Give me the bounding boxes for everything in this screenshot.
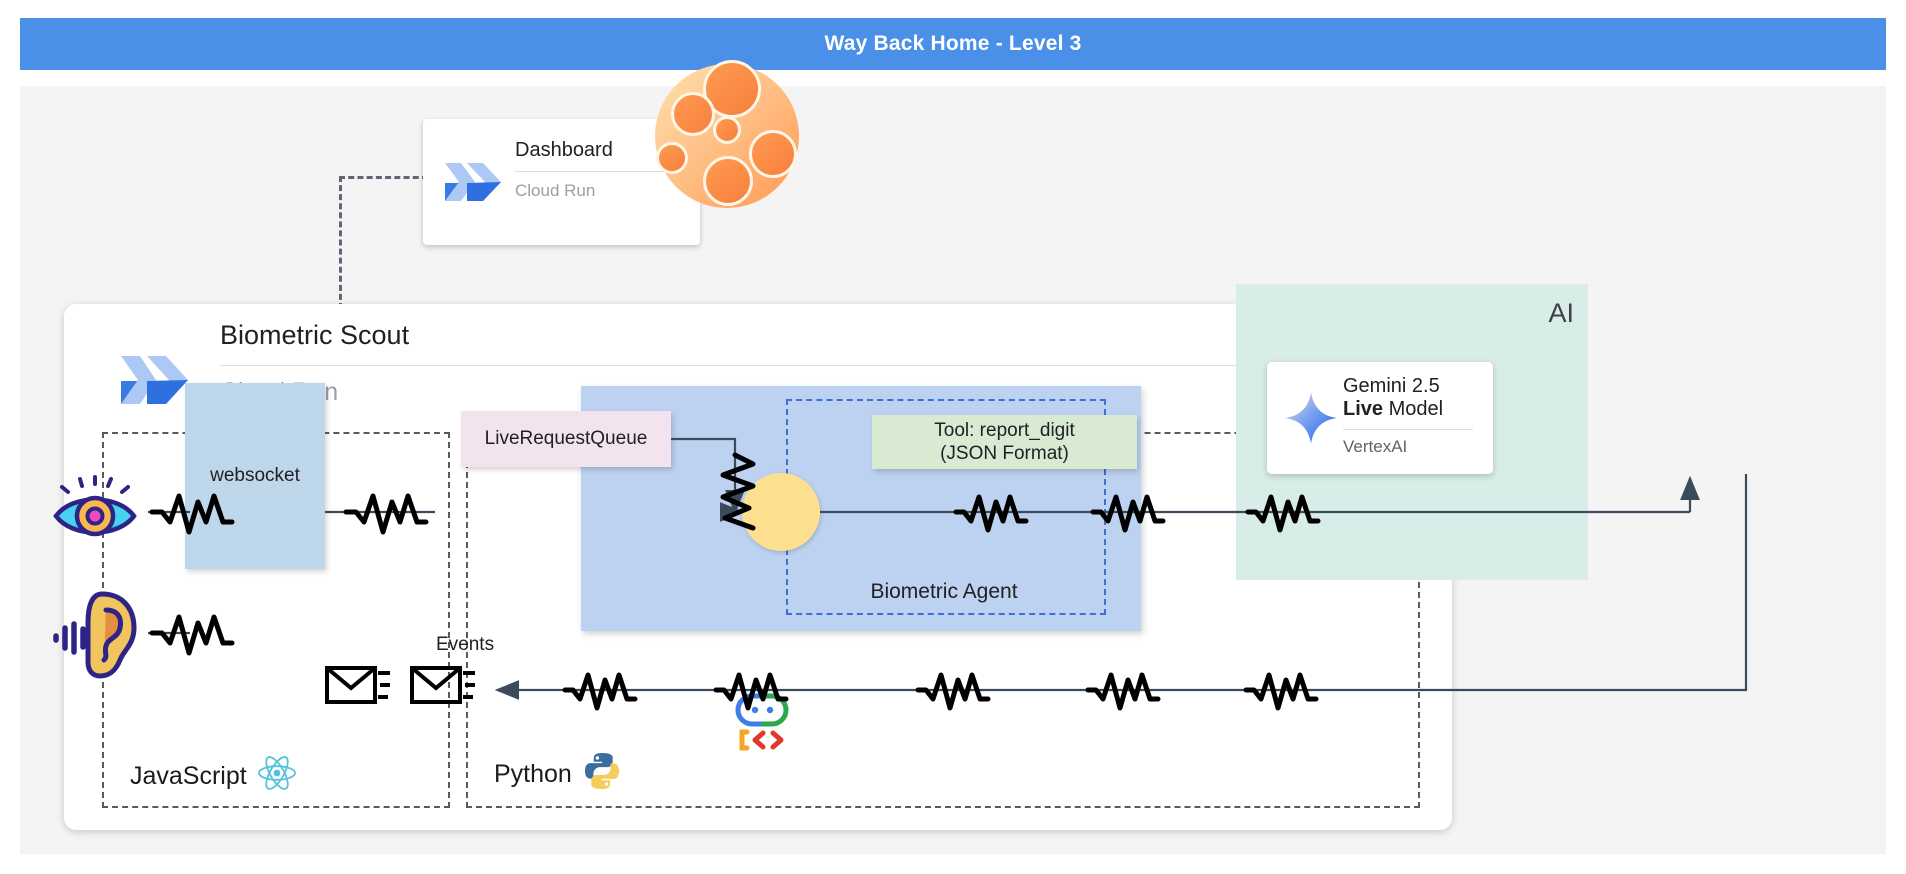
react-logo-icon bbox=[257, 755, 297, 798]
javascript-label-text: JavaScript bbox=[130, 762, 247, 791]
gemini-model-rest: Model bbox=[1383, 398, 1443, 420]
gemini-line-2: Live Model bbox=[1343, 398, 1483, 429]
gemini-card-divider bbox=[1343, 429, 1473, 430]
page-title-bar: Way Back Home - Level 3 bbox=[20, 18, 1886, 70]
page-title: Way Back Home - Level 3 bbox=[824, 32, 1081, 56]
biometric-agent-label: Biometric Agent bbox=[786, 580, 1102, 604]
crater bbox=[656, 142, 688, 174]
eye-icon bbox=[52, 478, 138, 553]
tool-line-1: Tool: report_digit bbox=[934, 419, 1074, 442]
cloud-run-logo-icon bbox=[116, 340, 196, 420]
tool-report-digit-box: Tool: report_digit (JSON Format) bbox=[872, 415, 1137, 469]
google-adk-logo-icon bbox=[731, 692, 793, 757]
gemini-model-card[interactable]: Gemini 2.5 Live Model VertexAI bbox=[1267, 362, 1493, 474]
python-label-text: Python bbox=[494, 760, 572, 789]
javascript-group-label: JavaScript bbox=[130, 755, 297, 798]
python-group-label: Python bbox=[494, 751, 622, 798]
websocket-box: websocket bbox=[185, 383, 325, 569]
ear-icon bbox=[50, 588, 142, 685]
moon-cheese-sprite-icon bbox=[655, 64, 799, 208]
scout-title: Biometric Scout bbox=[220, 320, 1410, 365]
envelope-icon bbox=[325, 660, 391, 711]
gemini-line-1: Gemini 2.5 bbox=[1343, 375, 1483, 398]
cloud-run-logo-icon bbox=[441, 149, 507, 215]
tool-line-2: (JSON Format) bbox=[940, 442, 1069, 465]
scout-divider bbox=[220, 365, 1400, 366]
envelope-icon bbox=[410, 660, 476, 711]
diagram-stage: Way Back Home - Level 3 Dashboard Cloud … bbox=[0, 0, 1906, 874]
crater bbox=[713, 116, 741, 144]
python-logo-icon bbox=[582, 751, 622, 798]
gemini-card-subtitle: VertexAI bbox=[1343, 437, 1483, 457]
gemini-live-bold: Live bbox=[1343, 398, 1383, 420]
events-label: Events bbox=[436, 634, 494, 656]
dashboard-card-divider bbox=[515, 171, 675, 172]
live-request-queue-box: LiveRequestQueue bbox=[461, 411, 671, 467]
dashboard-card-subtitle: Cloud Run bbox=[515, 181, 685, 201]
dashboard-to-scout-connector bbox=[339, 176, 428, 309]
crater bbox=[703, 156, 753, 206]
crater bbox=[671, 92, 715, 136]
gemini-star-icon bbox=[1283, 390, 1339, 446]
ai-panel-label: AI bbox=[1548, 298, 1574, 329]
crater bbox=[749, 130, 797, 178]
agent-core-circle-icon bbox=[742, 473, 820, 551]
gemini-card-text: Gemini 2.5 Live Model VertexAI bbox=[1343, 375, 1483, 457]
